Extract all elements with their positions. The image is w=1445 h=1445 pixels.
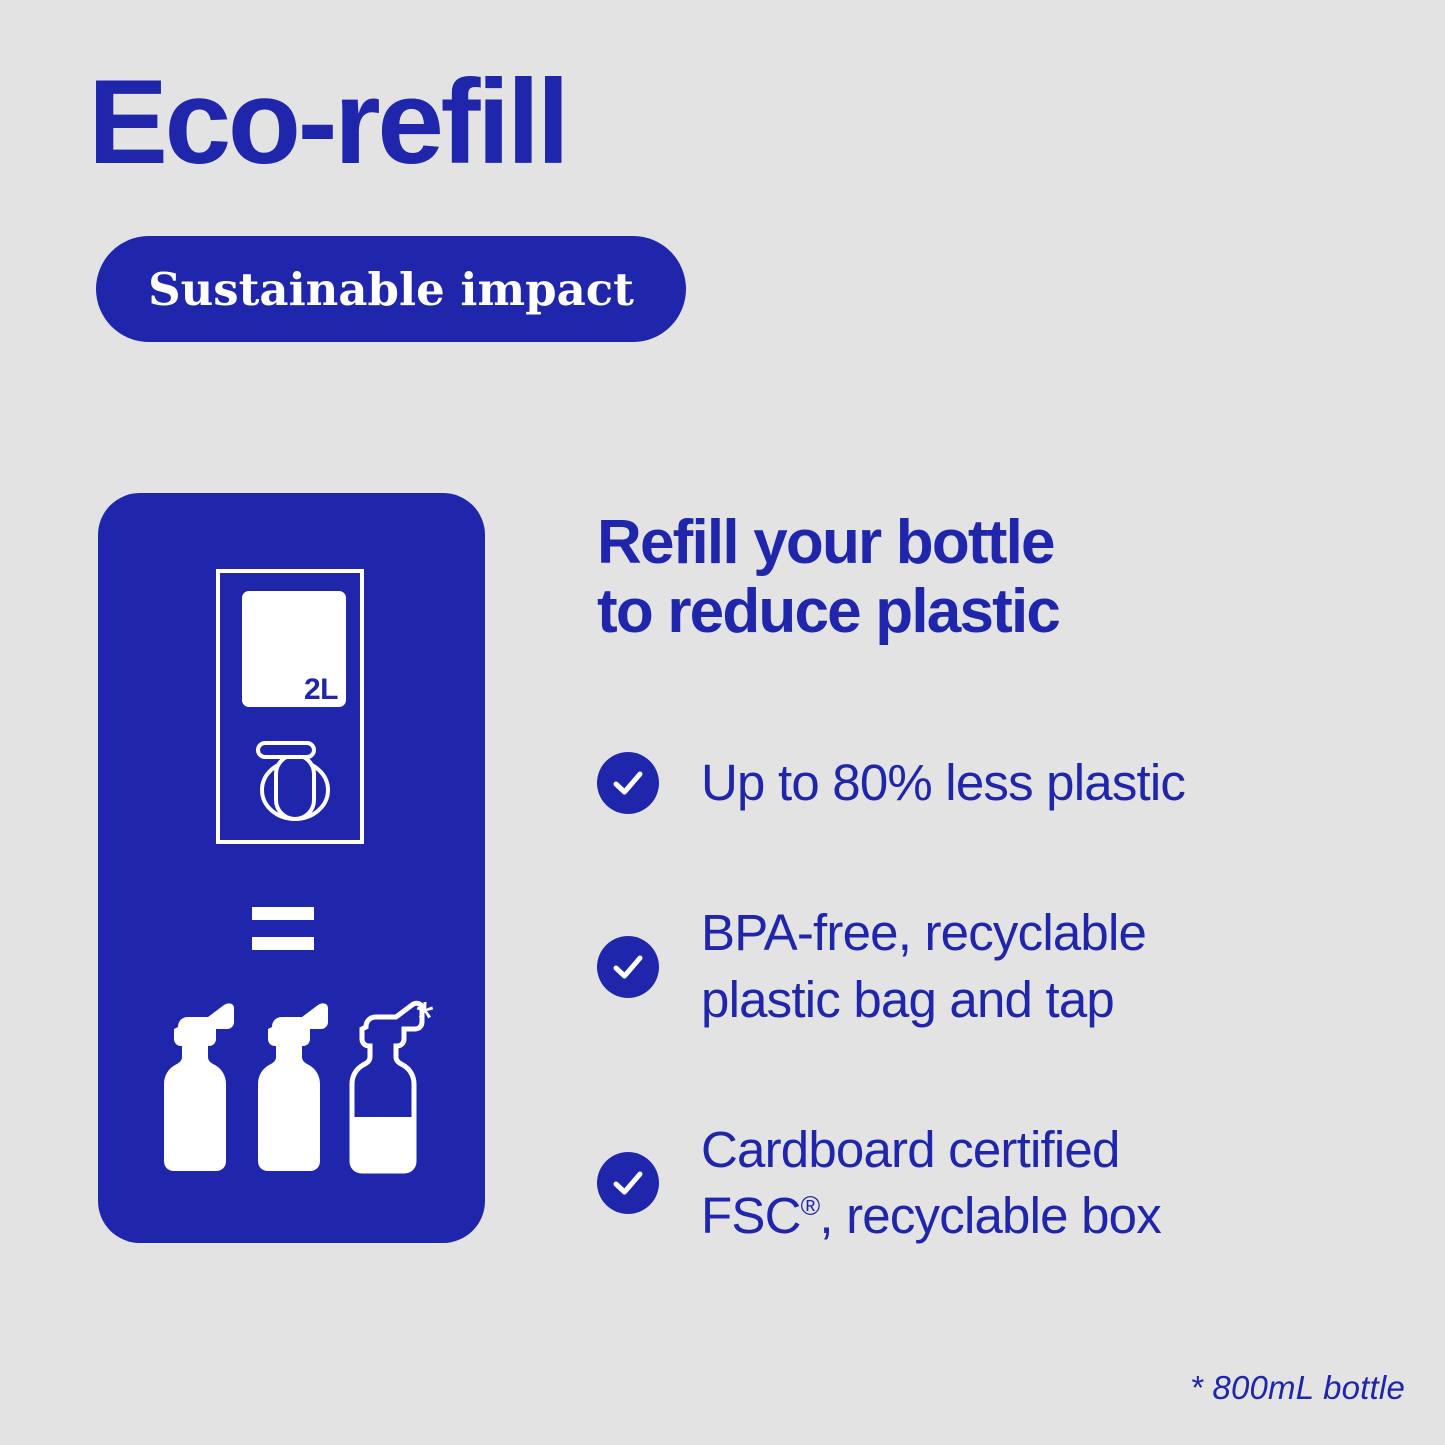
box-label: 2L — [242, 591, 346, 707]
page-title: Eco-refill — [88, 62, 566, 182]
check-circle-icon — [597, 936, 659, 998]
list-item-line-1: Cardboard certified — [701, 1117, 1161, 1183]
list-item: Cardboard certified FSC®, recyclable box — [597, 1117, 1397, 1250]
list-item-line-2: plastic bag and tap — [701, 967, 1146, 1033]
list-item-line-1: Up to 80% less plastic — [701, 750, 1185, 816]
check-circle-icon — [597, 752, 659, 814]
spray-bottle-solid-1 — [164, 1003, 234, 1171]
footnote: * 800mL bottle — [1190, 1369, 1405, 1407]
list-item-line-1: BPA-free, recyclable — [701, 900, 1146, 966]
infographic-page: Eco-refill Sustainable impact 2L — [0, 0, 1445, 1445]
asterisk-marker: * — [416, 995, 434, 1041]
product-illustration-card: 2L — [98, 493, 485, 1243]
box-volume-label: 2L — [304, 675, 338, 705]
fsc-suffix: , recyclable box — [819, 1187, 1161, 1244]
registered-mark: ® — [801, 1191, 820, 1221]
heading-line-2: to reduce plastic — [597, 577, 1397, 646]
fsc-prefix: FSC — [701, 1187, 801, 1244]
check-circle-icon — [597, 1152, 659, 1214]
list-item: Up to 80% less plastic — [597, 750, 1397, 816]
refill-box-outline: 2L — [216, 569, 364, 844]
tap-icon — [250, 735, 340, 827]
list-item-line-2: FSC®, recyclable box — [701, 1183, 1161, 1249]
content-column: Refill your bottle to reduce plastic Up … — [597, 508, 1397, 647]
heading-line-1: Refill your bottle — [597, 508, 1397, 577]
equals-icon — [252, 907, 314, 949]
spray-bottles-group: * — [158, 995, 458, 1175]
spray-bottle-partial-3 — [352, 1003, 422, 1171]
section-heading: Refill your bottle to reduce plastic — [597, 508, 1397, 647]
sustainable-impact-badge: Sustainable impact — [96, 236, 686, 342]
spray-bottle-solid-2 — [258, 1003, 328, 1171]
list-item-label: BPA-free, recyclable plastic bag and tap — [701, 900, 1146, 1033]
list-item-label: Cardboard certified FSC®, recyclable box — [701, 1117, 1161, 1250]
equals-bar-bottom — [252, 937, 314, 950]
badge-label: Sustainable impact — [96, 236, 686, 342]
list-item-label: Up to 80% less plastic — [701, 750, 1185, 816]
list-item: BPA-free, recyclable plastic bag and tap — [597, 900, 1397, 1033]
equals-bar-top — [252, 907, 314, 920]
benefits-list: Up to 80% less plastic BPA-free, recycla… — [597, 750, 1397, 1249]
